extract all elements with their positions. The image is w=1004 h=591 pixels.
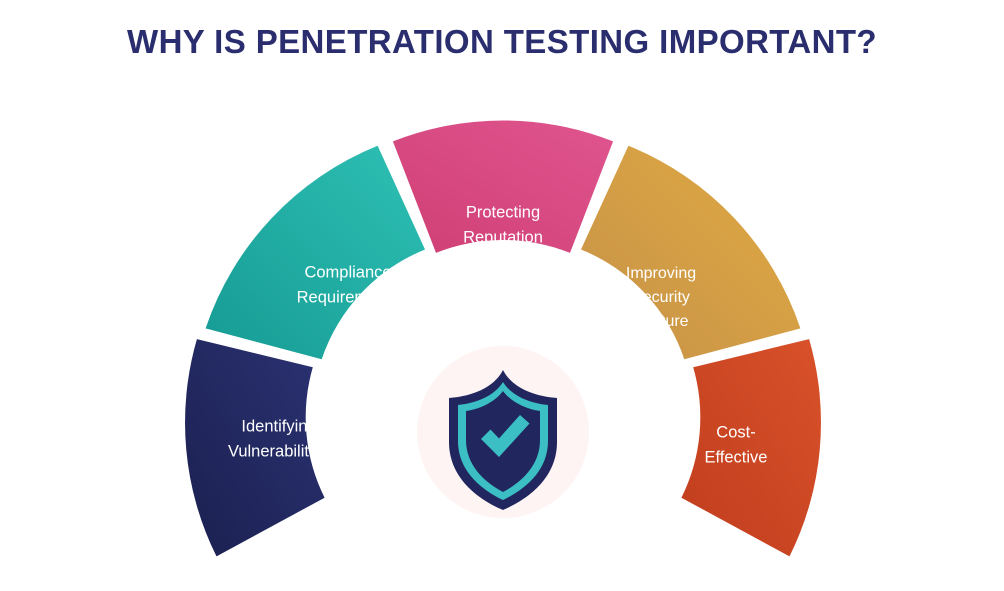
- segment-label-line: Vulnerabilities: [228, 442, 330, 460]
- segment-label-line: Compliance: [304, 263, 391, 281]
- segment-label-line: Requirements: [297, 288, 400, 306]
- infographic-page: WHY IS PENETRATION TESTING IMPORTANT?: [0, 0, 1004, 591]
- segment-label-line: Improving: [626, 265, 696, 282]
- segment-label-line: Cost-: [716, 423, 755, 441]
- segment-label-line: Effective: [705, 448, 768, 466]
- segment-improving-security-posture-shape[interactable]: [581, 146, 800, 360]
- segment-label-line: Reputation: [463, 228, 543, 246]
- segment-label-line: Posture: [633, 313, 688, 330]
- segment-label-improving-security-posture: Improving Security Posture: [626, 265, 696, 330]
- segment-compliance-requirements-shape[interactable]: [206, 146, 425, 360]
- segment-compliance-requirements[interactable]: [206, 146, 425, 360]
- segment-label-line: Security: [632, 289, 690, 306]
- segment-label-line: Identifying: [241, 417, 316, 435]
- segment-label-line: Protecting: [466, 203, 540, 221]
- donut-chart-svg: Identifying Vulnerabilities Compliance R…: [0, 0, 1004, 591]
- segment-improving-security-posture[interactable]: [581, 146, 800, 360]
- semicircle-donut-diagram: Identifying Vulnerabilities Compliance R…: [0, 0, 1004, 591]
